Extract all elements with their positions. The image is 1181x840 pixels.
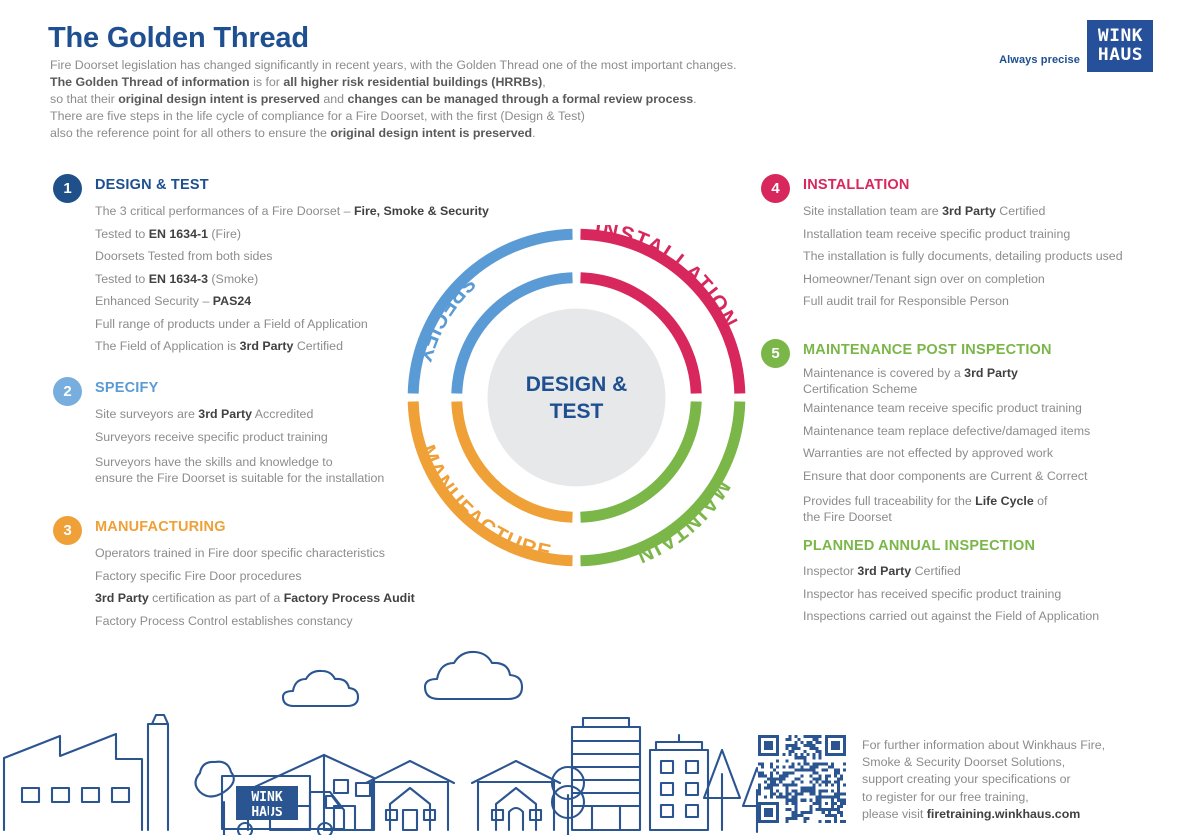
step-lines-5: Maintenance is covered by a 3rd PartyCer… [803, 365, 1090, 525]
step-line: Maintenance team replace defective/damag… [803, 420, 1090, 443]
step-line: Operators trained in Fire door specific … [95, 542, 415, 565]
step-title-1: DESIGN & TEST [95, 174, 489, 194]
ring-svg: SPECIFY INSTALLATION MAINTAIN MANUFACTUR… [404, 225, 749, 570]
step-number-badge-2: 2 [53, 377, 82, 406]
chimney-top [152, 715, 168, 724]
chimney-icon [148, 724, 168, 830]
step-line: Maintenance is covered by a 3rd Party [803, 365, 1090, 381]
infographic-page: The Golden Thread Fire Doorset legislati… [0, 0, 1181, 835]
footer-line: please visit firetraining.winkhaus.com [862, 806, 1162, 823]
cityscape-illustration: WINK HAUS [0, 640, 760, 835]
intro-line: also the reference point for all others … [50, 125, 890, 142]
step-line: Site installation team are 3rd Party Cer… [803, 200, 1123, 223]
intro-line: so that their original design intent is … [50, 91, 890, 108]
truck-logo-line1: WINK [251, 790, 282, 805]
step-title-5: MAINTENANCE POST INSPECTION [803, 339, 1090, 359]
step-title-3: MANUFACTURING [95, 516, 415, 536]
qr-code[interactable] [758, 735, 846, 823]
planned-inspection-lines: Inspector 3rd Party CertifiedInspector h… [803, 560, 1099, 628]
step-block-3: 3MANUFACTURINGOperators trained in Fire … [53, 516, 415, 632]
house-icon [472, 761, 560, 830]
footer-line: For further information about Winkhaus F… [862, 737, 1162, 754]
intro-paragraph: Fire Doorset legislation has changed sig… [50, 57, 890, 142]
house-icon [366, 761, 454, 830]
step-line: Site surveyors are 3rd Party Accredited [95, 403, 384, 426]
footer-contact-text: For further information about Winkhaus F… [862, 737, 1162, 823]
truck-logo-line2: HAUS [251, 805, 282, 820]
planned-inspection-line: Inspections carried out against the Fiel… [803, 605, 1099, 628]
step-line: Factory Process Control establishes cons… [95, 610, 415, 633]
step-lines-4: Site installation team are 3rd Party Cer… [803, 200, 1123, 313]
cloud-icon [283, 671, 358, 706]
step-number-badge-4: 4 [761, 174, 790, 203]
step-number-badge-5: 5 [761, 339, 790, 368]
step-line: Warranties are not effected by approved … [803, 442, 1090, 465]
lifecycle-ring-diagram: SPECIFY INSTALLATION MAINTAIN MANUFACTUR… [404, 225, 749, 570]
step-line: Maintenance team receive specific produc… [803, 397, 1090, 420]
step-line: Homeowner/Tenant sign over on completion [803, 268, 1123, 291]
cloud-icon [425, 652, 522, 699]
intro-line: There are five steps in the life cycle o… [50, 108, 890, 125]
step-line: Full audit trail for Responsible Person [803, 290, 1123, 313]
center-disc [488, 309, 666, 487]
planned-inspection-line: Inspector 3rd Party Certified [803, 560, 1099, 583]
step-number-badge-1: 1 [53, 174, 82, 203]
footer-line: support creating your specifications or [862, 771, 1162, 788]
logo-tagline: Always precise [999, 54, 1080, 72]
step-line: The 3 critical performances of a Fire Do… [95, 200, 489, 223]
footer-line: to register for our free training, [862, 789, 1162, 806]
step-line: Factory specific Fire Door procedures [95, 565, 415, 588]
tree-icon [552, 767, 584, 835]
planned-inspection-title: PLANNED ANNUAL INSPECTION [803, 538, 1099, 554]
qr-code-svg [758, 735, 846, 823]
step-line: 3rd Party certification as part of a Fac… [95, 587, 415, 610]
step-lines-3: Operators trained in Fire door specific … [95, 542, 415, 632]
planned-annual-inspection-block: PLANNED ANNUAL INSPECTIONInspector 3rd P… [761, 538, 1099, 628]
step-lines-2: Site surveyors are 3rd Party AccreditedS… [95, 403, 384, 486]
step-number-badge-3: 3 [53, 516, 82, 545]
step-title-2: SPECIFY [95, 377, 384, 397]
step-line: Surveyors receive specific product train… [95, 426, 384, 449]
step-line: Installation team receive specific produ… [803, 223, 1123, 246]
factory-icon [4, 734, 142, 830]
step-block-4: 4INSTALLATIONSite installation team are … [761, 174, 1123, 313]
step-line: Surveyors have the skills and knowledge … [95, 454, 384, 470]
step-title-4: INSTALLATION [803, 174, 1123, 194]
winkhaus-logo: Always precise WINK HAUS [999, 20, 1153, 72]
conifer-tree-icon [704, 750, 740, 830]
step-line: The installation is fully documents, det… [803, 245, 1123, 268]
page-title: The Golden Thread [48, 22, 309, 55]
logo-text-line1: WINK [1097, 27, 1142, 46]
step-block-2: 2SPECIFYSite surveyors are 3rd Party Acc… [53, 377, 384, 486]
step-line: ensure the Fire Doorset is suitable for … [95, 470, 384, 486]
step-line: Ensure that door components are Current … [803, 465, 1090, 488]
cityscape-svg: WINK HAUS [0, 640, 760, 835]
intro-line: Fire Doorset legislation has changed sig… [50, 57, 890, 74]
planned-inspection-line: Inspector has received specific product … [803, 583, 1099, 606]
logo-mark: WINK HAUS [1087, 20, 1153, 72]
step-line: Certification Scheme [803, 381, 1090, 397]
intro-line: The Golden Thread of information is for … [50, 74, 890, 91]
step-line: the Fire Doorset [803, 509, 1090, 525]
footer-line: Smoke & Security Doorset Solutions, [862, 754, 1162, 771]
tower-block-icon [650, 735, 708, 830]
step-line: Provides full traceability for the Life … [803, 493, 1090, 509]
logo-text-line2: HAUS [1097, 46, 1142, 65]
step-block-5: 5MAINTENANCE POST INSPECTIONMaintenance … [761, 339, 1090, 525]
tree-icon [196, 762, 234, 835]
